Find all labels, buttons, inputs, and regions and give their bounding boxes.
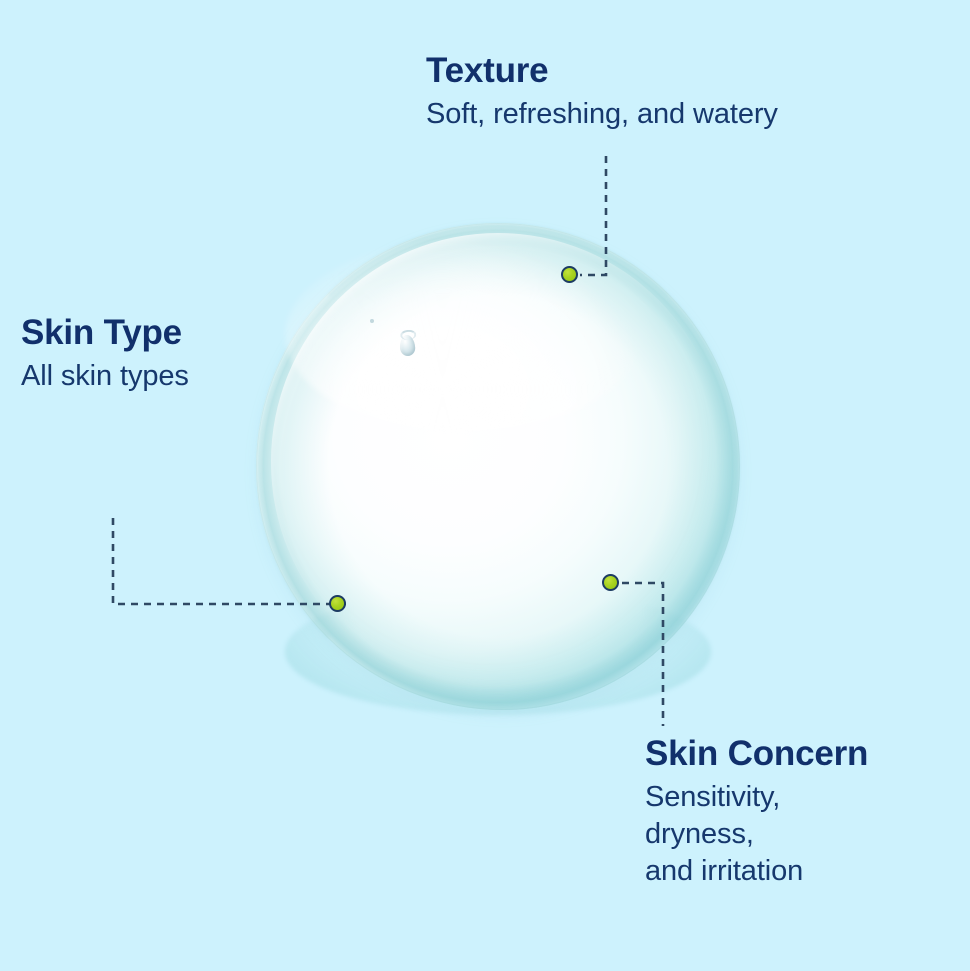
skin-type-marker-dot[interactable] [329,595,346,612]
gel-droplet-illustration [256,223,740,710]
gel-droplet-highlight [285,238,643,433]
gel-micro-bubble-icon [370,319,374,323]
callout-skin-type-title: Skin Type [21,314,189,352]
callout-skin-type-description: All skin types [21,358,189,395]
connector-texture [580,156,606,275]
texture-marker-dot[interactable] [561,266,578,283]
infographic-canvas: Texture Soft, refreshing, and watery Ski… [0,0,970,971]
connector-skin-concern [622,583,663,726]
callout-texture-description: Soft, refreshing, and watery [426,96,778,133]
callout-skin-concern-description: Sensitivity, dryness, and irritation [645,779,868,890]
callout-skin-concern-title: Skin Concern [645,735,868,773]
callout-texture: Texture Soft, refreshing, and watery [426,52,778,133]
gel-droplet-sheen [271,233,726,691]
gel-bubble-icon [399,335,415,357]
gel-droplet-body [256,223,740,710]
skin-concern-marker-dot[interactable] [602,574,619,591]
gel-droplet-bottom-shadow [285,588,711,715]
callout-skin-concern: Skin Concern Sensitivity, dryness, and i… [645,735,868,890]
callout-texture-title: Texture [426,52,778,90]
connector-skin-type [113,518,348,604]
gel-droplet-outer-arc [257,224,739,709]
callout-skin-type: Skin Type All skin types [21,314,189,395]
gel-droplet-rim [256,223,740,710]
